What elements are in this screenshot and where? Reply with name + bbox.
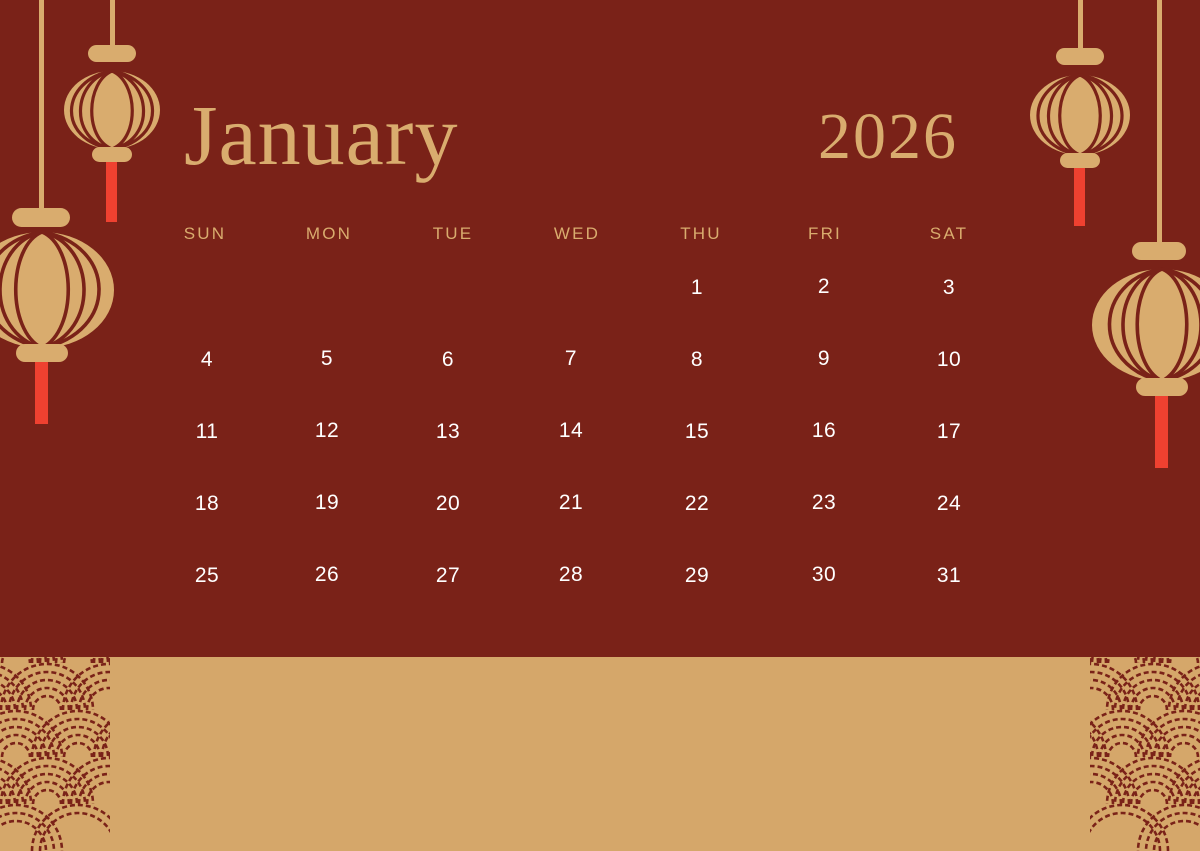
weekday-sun: SUN	[143, 224, 267, 244]
page-title-month: January	[184, 92, 458, 178]
weekday-fri: FRI	[763, 224, 887, 244]
weekday-thu: THU	[639, 224, 763, 244]
day-cell[interactable]: 11	[145, 420, 269, 492]
day-cell[interactable]: 13	[386, 420, 510, 492]
day-cell-empty	[509, 275, 633, 347]
weekday-header-row: SUN MON TUE WED THU FRI SAT	[143, 224, 1011, 244]
day-cell[interactable]: 17	[887, 420, 1011, 492]
calendar-header: January 2026	[0, 0, 1200, 210]
day-cell[interactable]: 1	[635, 276, 759, 348]
day-cell[interactable]: 6	[386, 348, 510, 420]
calendar-page: January 2026 SUN MON TUE WED THU FRI SAT…	[0, 0, 1200, 851]
day-cell[interactable]: 21	[509, 491, 633, 563]
important-dates-panel: Important Dates January 1: Start prepari…	[0, 657, 1200, 851]
day-cell[interactable]: 25	[145, 564, 269, 636]
day-cell[interactable]: 15	[635, 420, 759, 492]
day-cell[interactable]: 31	[887, 564, 1011, 636]
day-cell[interactable]: 27	[386, 564, 510, 636]
calendar-red-panel: January 2026 SUN MON TUE WED THU FRI SAT…	[0, 0, 1200, 657]
wave-pattern-right	[1090, 657, 1200, 851]
day-cell[interactable]: 20	[386, 492, 510, 564]
day-cell[interactable]: 16	[762, 419, 886, 491]
day-cell[interactable]: 26	[265, 563, 389, 635]
weekday-sat: SAT	[887, 224, 1011, 244]
calendar-day-grid: 1 2 3 4 5 6 7 8 9 10 11 12 13 14 15 16 1…	[143, 276, 1011, 636]
day-cell[interactable]: 22	[635, 492, 759, 564]
day-cell[interactable]: 8	[635, 348, 759, 420]
weekday-tue: TUE	[391, 224, 515, 244]
day-cell[interactable]: 3	[887, 276, 1011, 348]
lantern-mid-right	[1092, 242, 1200, 468]
day-cell[interactable]: 14	[509, 419, 633, 491]
day-cell-empty	[386, 276, 510, 348]
day-cell[interactable]: 29	[635, 564, 759, 636]
wave-pattern-left	[0, 657, 110, 851]
day-cell[interactable]: 30	[762, 563, 886, 635]
day-cell[interactable]: 23	[762, 491, 886, 563]
day-cell[interactable]: 24	[887, 492, 1011, 564]
day-cell[interactable]: 19	[265, 491, 389, 563]
weekday-mon: MON	[267, 224, 391, 244]
day-cell[interactable]: 28	[509, 563, 633, 635]
day-cell[interactable]: 9	[762, 347, 886, 419]
day-cell-empty	[265, 275, 389, 347]
weekday-wed: WED	[515, 224, 639, 244]
page-title-year: 2026	[818, 104, 958, 170]
day-cell[interactable]: 10	[887, 348, 1011, 420]
day-cell[interactable]: 7	[509, 347, 633, 419]
day-cell-empty	[145, 276, 269, 348]
day-cell[interactable]: 2	[762, 275, 886, 347]
day-cell[interactable]: 4	[145, 348, 269, 420]
day-cell[interactable]: 18	[145, 492, 269, 564]
day-cell[interactable]: 5	[265, 347, 389, 419]
day-cell[interactable]: 12	[265, 419, 389, 491]
